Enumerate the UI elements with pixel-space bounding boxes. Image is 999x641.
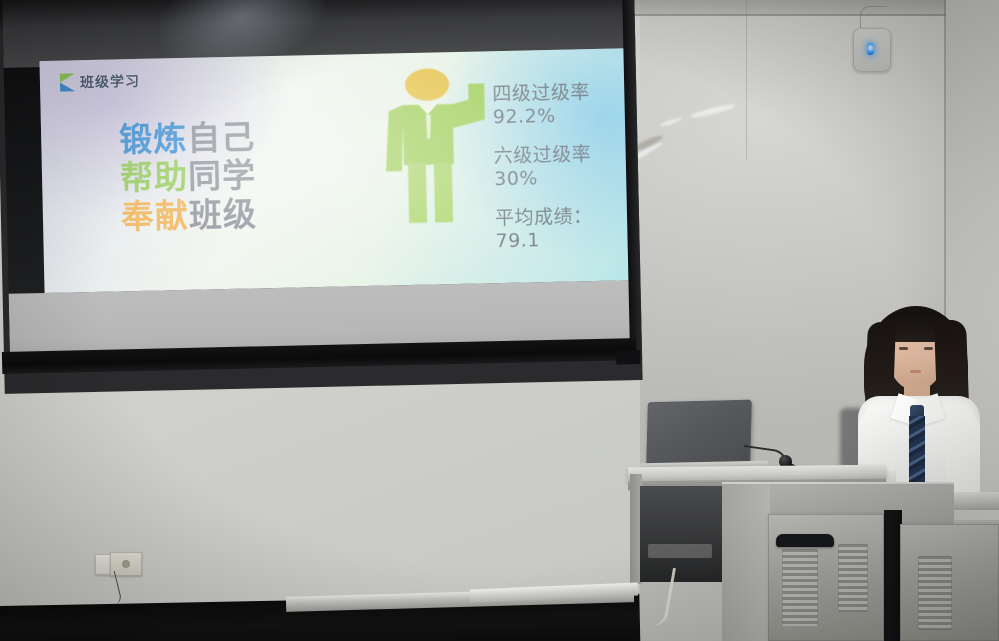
presenter-eye-right (924, 347, 933, 350)
projected-slide: 班级学习 锻炼自己 帮助同学 奉献班级 (40, 48, 637, 293)
slogan-1-rest: 自己 (187, 117, 256, 157)
led-indicator-icon (867, 43, 874, 55)
stat-label-1: 四级过级率 (492, 76, 636, 106)
stat-label-2: 六级过级率 (493, 138, 636, 168)
wall-seam-upper (746, 0, 747, 160)
slogan-line-3: 奉献班级 (121, 195, 258, 236)
podium-left-column (722, 484, 770, 641)
screen-pull-tab (616, 350, 640, 365)
wall-speaker-device (853, 28, 891, 72)
classroom-presentation-photo: 班级学习 锻炼自己 帮助同学 奉献班级 (0, 0, 999, 641)
lectern-cavity (640, 486, 722, 582)
stat-label-3: 平均成绩： (495, 200, 636, 230)
wall-device-wire (860, 6, 887, 29)
slogan-2-highlight: 帮助 (120, 157, 189, 197)
slide-logo: 班级学习 (60, 71, 140, 93)
slide-logo-text: 班级学习 (80, 71, 140, 92)
slogan-1-highlight: 锻炼 (119, 119, 188, 159)
slogan-line-1: 锻炼自己 (119, 118, 256, 159)
stat-value-3: 79.1 (495, 227, 636, 252)
stat-value-1: 92.2% (493, 103, 637, 128)
lectern-cavity-item (648, 544, 712, 558)
cabinet-vent-2 (838, 544, 868, 612)
presenter-mouth (910, 370, 921, 373)
slide-statistics: 四级过级率 92.2% 六级过级率 30% 平均成绩： 79.1 (492, 76, 636, 252)
business-person-raised-arm-icon (380, 65, 503, 228)
ceiling-edge-line (610, 14, 999, 16)
cabinet-vent-1 (782, 549, 818, 627)
slogan-3-highlight: 奉献 (120, 195, 189, 235)
cabinet-handle (776, 534, 834, 547)
slogan-3-rest: 班级 (188, 194, 257, 234)
wall-outlet-hole (122, 560, 130, 568)
laptop-lid (646, 400, 752, 470)
slogan-2-rest: 同学 (188, 156, 257, 196)
slide-slogan-block: 锻炼自己 帮助同学 奉献班级 (119, 118, 257, 236)
screen-surface: 班级学习 锻炼自己 帮助同学 奉献班级 (2, 0, 636, 371)
presenter-eye-left (899, 347, 908, 350)
left-triangle-logo-icon (60, 73, 75, 91)
projection-screen: 班级学习 锻炼自己 帮助同学 奉献班级 (0, 0, 645, 402)
stat-value-2: 30% (494, 165, 636, 190)
slogan-line-2: 帮助同学 (120, 157, 257, 198)
cabinet-vent-3 (918, 556, 952, 630)
